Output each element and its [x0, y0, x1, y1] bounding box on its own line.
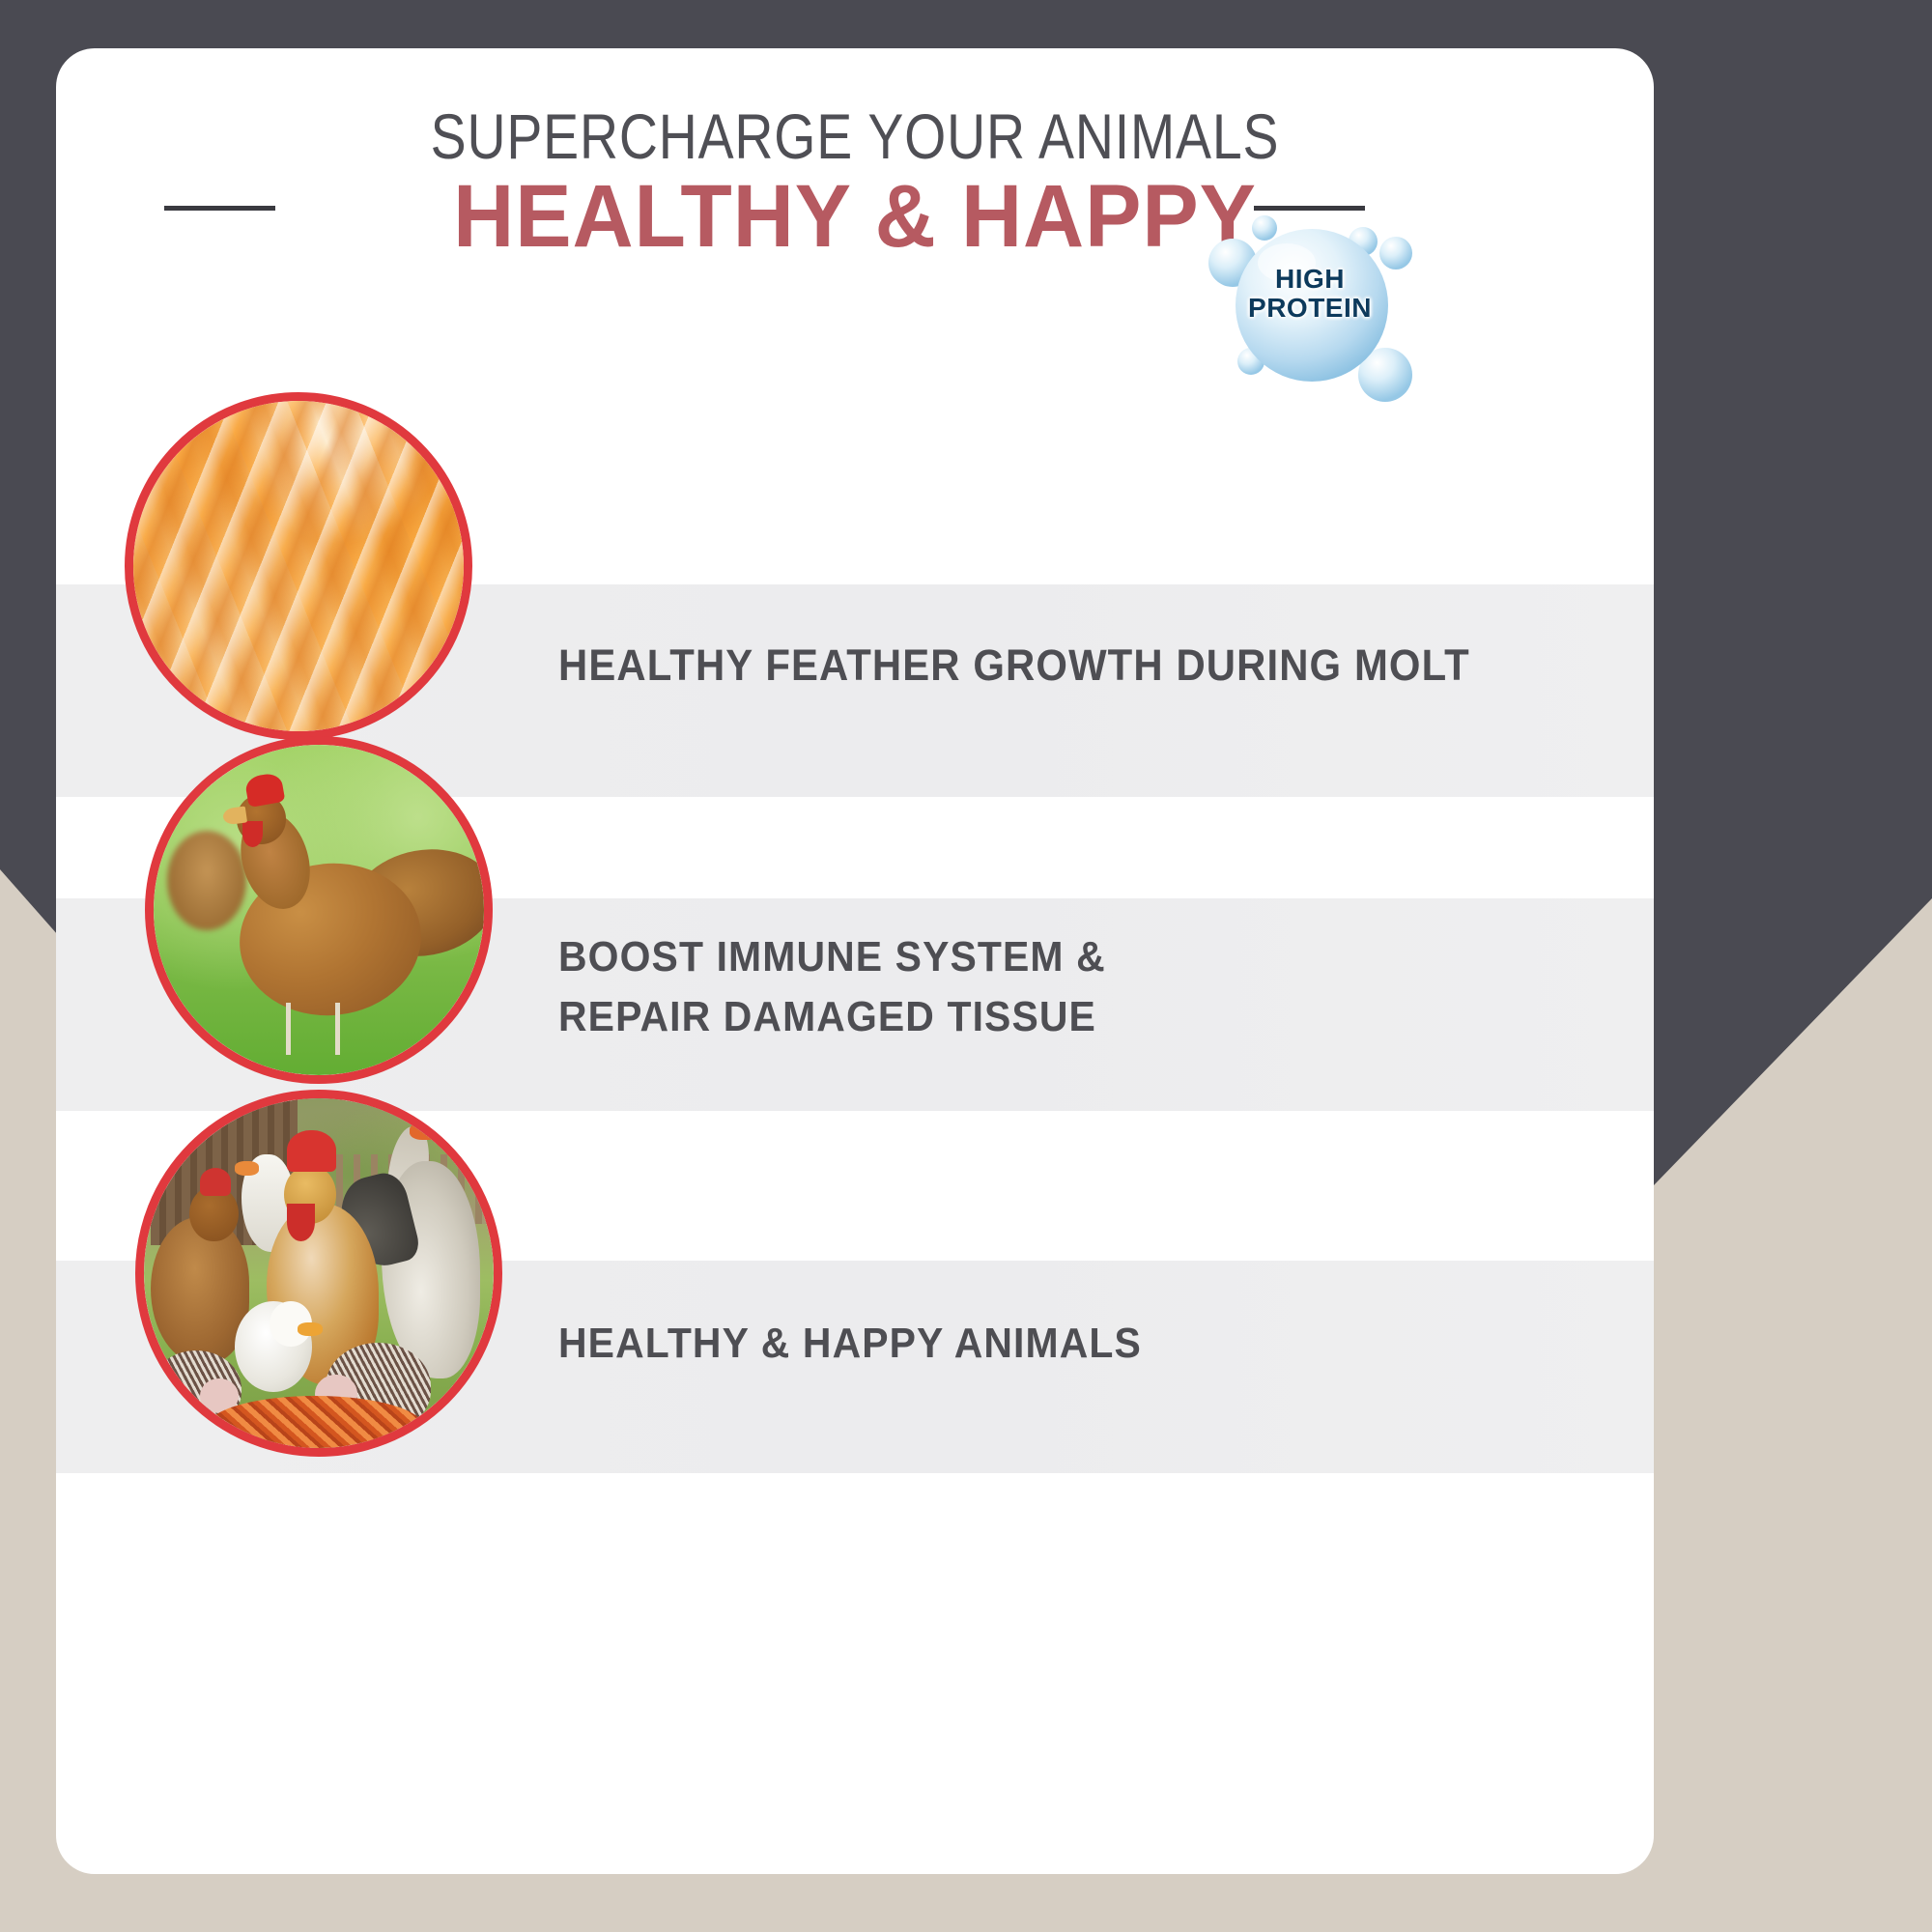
hen-leg-left — [286, 1003, 291, 1056]
duckling-beak — [298, 1322, 322, 1336]
farmyard-background — [144, 1098, 494, 1448]
feather-photo — [133, 401, 464, 731]
grey-goose-beak — [410, 1122, 441, 1140]
badge-label: HIGH PROTEIN — [1194, 265, 1426, 323]
feature-2-line-1: BOOST IMMUNE SYSTEM & — [558, 927, 1511, 987]
feature-2-line-2: REPAIR DAMAGED TISSUE — [558, 987, 1511, 1047]
rooster-comb — [287, 1130, 336, 1172]
feature-text-3: HEALTHY & HAPPY ANIMALS — [558, 1314, 1511, 1374]
badge-line-2: PROTEIN — [1248, 293, 1372, 323]
feature-image-happy-animals — [135, 1090, 502, 1457]
high-protein-badge: HIGH PROTEIN — [1194, 203, 1426, 411]
feather-texture — [133, 401, 464, 731]
hens-photo — [154, 745, 484, 1075]
brown-hen-comb — [200, 1168, 232, 1196]
grass-background — [154, 745, 484, 1075]
farmyard-photo — [144, 1098, 494, 1448]
feature-text-1: HEALTHY FEATHER GROWTH DURING MOLT — [558, 635, 1511, 696]
header: SUPERCHARGE YOUR ANIMALS HEALTHY & HAPPY — [56, 48, 1654, 367]
background-hen — [167, 831, 246, 930]
feature-3-line-1: HEALTHY & HAPPY ANIMALS — [558, 1314, 1511, 1374]
hen-leg-right — [335, 1003, 340, 1056]
kicker-text: SUPERCHARGE YOUR ANIMALS — [184, 99, 1525, 173]
badge-line-1: HIGH — [1275, 264, 1345, 294]
content-card: SUPERCHARGE YOUR ANIMALS HEALTHY & HAPPY — [56, 48, 1654, 1874]
feature-image-feather-growth — [125, 392, 472, 740]
feature-1-line-1: HEALTHY FEATHER GROWTH DURING MOLT — [558, 635, 1511, 696]
hen-wattle — [242, 821, 263, 847]
feature-image-immune-system — [145, 736, 493, 1084]
feature-text-2: BOOST IMMUNE SYSTEM & REPAIR DAMAGED TIS… — [558, 927, 1511, 1048]
white-goose-beak — [235, 1161, 259, 1175]
